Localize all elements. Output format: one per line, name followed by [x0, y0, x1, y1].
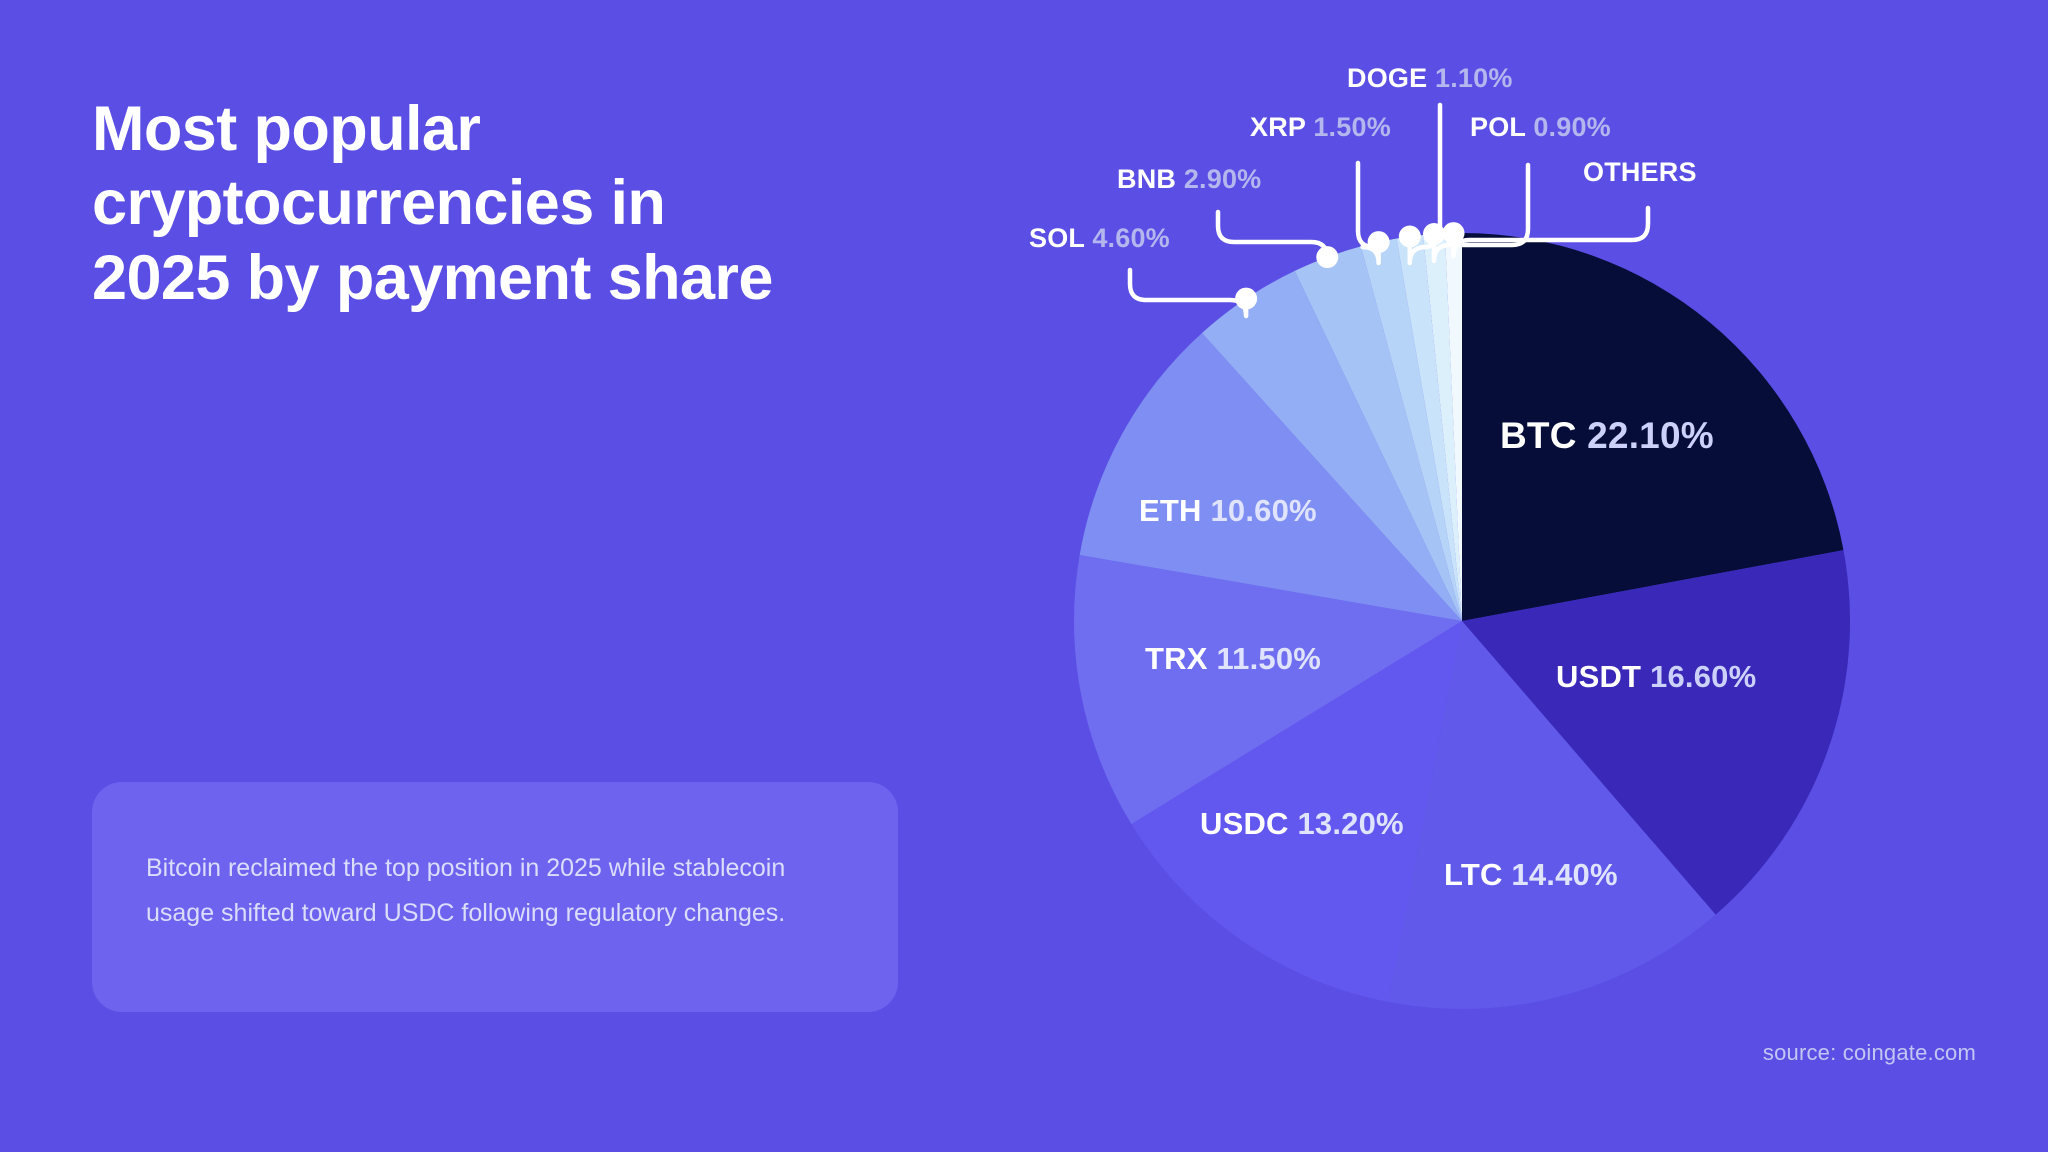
leader-dot-bnb: [1316, 246, 1338, 268]
slice-ticker-usdt: USDT: [1556, 659, 1641, 694]
pie-slice-others: [1445, 233, 1462, 621]
callout-ticker-xrp: XRP: [1250, 112, 1306, 142]
callout-ticker-bnb: BNB: [1117, 164, 1176, 194]
leader-dot-sol: [1235, 288, 1257, 310]
slice-ticker-btc: BTC: [1500, 415, 1577, 456]
slice-pct-btc: 22.10%: [1587, 415, 1714, 456]
headline-line-2: cryptocurrencies in: [92, 166, 972, 240]
pie-slice-xrp: [1361, 239, 1462, 621]
pie-slice-bnb: [1295, 246, 1462, 621]
slice-pct-usdc: 13.20%: [1297, 806, 1403, 841]
pie-slice-doge: [1397, 235, 1462, 621]
leader-line-pol: [1434, 165, 1528, 261]
leader-dot-doge: [1399, 226, 1421, 248]
source-attribution: source: coingate.com: [1763, 1040, 1976, 1066]
leader-line-sol: [1130, 270, 1246, 316]
callout-label-bnb: BNB 2.90%: [1117, 164, 1261, 195]
callout-pct-pol: 0.90%: [1533, 112, 1611, 142]
leader-line-doge: [1410, 105, 1440, 263]
insight-card-text: Bitcoin reclaimed the top position in 20…: [146, 846, 844, 935]
pie-slice-pol: [1423, 233, 1462, 621]
slice-ticker-eth: ETH: [1139, 493, 1202, 528]
slice-label-btc: BTC 22.10%: [1500, 415, 1714, 457]
slice-pct-trx: 11.50%: [1216, 641, 1321, 676]
callout-label-xrp: XRP 1.50%: [1250, 112, 1391, 143]
slice-ticker-trx: TRX: [1145, 641, 1208, 676]
insight-card: Bitcoin reclaimed the top position in 20…: [92, 782, 898, 1012]
pie-slice-sol: [1202, 271, 1462, 621]
callout-pct-sol: 4.60%: [1092, 223, 1170, 253]
callout-pct-doge: 1.10%: [1435, 63, 1513, 93]
callout-ticker-pol: POL: [1470, 112, 1526, 142]
slice-pct-usdt: 16.60%: [1650, 659, 1756, 694]
slice-pct-eth: 10.60%: [1210, 493, 1316, 528]
leader-dot-pol: [1423, 223, 1445, 245]
leader-dot-xrp: [1368, 231, 1390, 253]
slice-ticker-usdc: USDC: [1200, 806, 1289, 841]
slice-label-usdt: USDT 16.60%: [1556, 659, 1756, 695]
pie-slice-eth: [1080, 333, 1462, 621]
callout-pct-xrp: 1.50%: [1313, 112, 1391, 142]
callout-pct-bnb: 2.90%: [1184, 164, 1262, 194]
callout-ticker-doge: DOGE: [1347, 63, 1427, 93]
page-title: Most popular cryptocurrencies in 2025 by…: [92, 92, 972, 315]
headline-block: Most popular cryptocurrencies in 2025 by…: [92, 92, 972, 315]
headline-line-1: Most popular: [92, 92, 972, 166]
slice-label-trx: TRX 11.50%: [1145, 641, 1321, 677]
slice-pct-ltc: 14.40%: [1511, 857, 1617, 892]
pie-slice-trx: [1074, 555, 1462, 824]
headline-line-3: 2025 by payment share: [92, 241, 972, 315]
callout-label-pol: POL 0.90%: [1470, 112, 1611, 143]
slice-label-eth: ETH 10.60%: [1139, 493, 1317, 529]
leader-line-bnb: [1218, 212, 1327, 258]
leader-dot-others: [1443, 222, 1465, 244]
leader-line-others: [1454, 208, 1649, 256]
slice-label-ltc: LTC 14.40%: [1444, 857, 1618, 893]
leader-dots: [1235, 222, 1464, 310]
slice-ticker-ltc: LTC: [1444, 857, 1503, 892]
callout-label-sol: SOL 4.60%: [1029, 223, 1170, 254]
infographic-canvas: Most popular cryptocurrencies in 2025 by…: [0, 0, 2048, 1152]
slice-label-usdc: USDC 13.20%: [1200, 806, 1404, 842]
leader-line-xrp: [1358, 163, 1379, 263]
callout-ticker-sol: SOL: [1029, 223, 1085, 253]
callout-label-others: OTHERS: [1583, 157, 1697, 188]
callout-label-doge: DOGE 1.10%: [1347, 63, 1513, 94]
callout-ticker-others: OTHERS: [1583, 157, 1697, 187]
